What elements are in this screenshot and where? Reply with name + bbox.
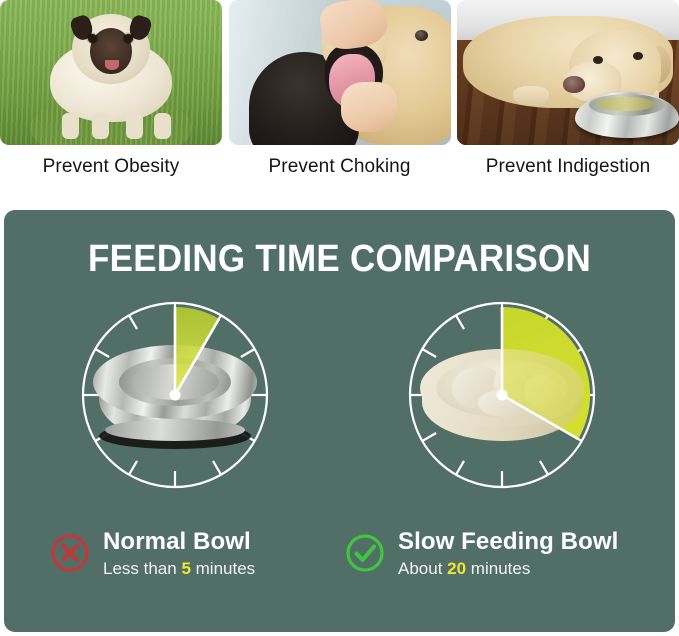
caption-prevent-obesity: Prevent Obesity [0, 152, 222, 192]
pug-leg [62, 113, 79, 139]
slow-bowl-minutes-value: 20 [447, 559, 466, 578]
pug-eye [124, 34, 133, 43]
gauge-center-pin [170, 390, 181, 401]
normal-bowl-subtitle: Less than 5 minutes [103, 557, 255, 581]
gauge-slow-feeding-bowl [402, 295, 602, 495]
comparison-item-slow-feeding-bowl: Slow Feeding Bowl About 20 minutes [344, 528, 618, 581]
dog-by-bowl-photo [457, 0, 679, 145]
slow-bowl-subtitle-suffix: minutes [466, 559, 530, 578]
labrador-nose [563, 76, 585, 93]
bowl-food [597, 97, 655, 111]
pug-on-grass-photo [0, 0, 222, 145]
feeding-time-comparison-panel: FEEDING TIME COMPARISON [4, 210, 675, 632]
slow-bowl-subtitle-prefix: About [398, 559, 447, 578]
comparison-item-normal-bowl: Normal Bowl Less than 5 minutes [49, 528, 255, 581]
labrador-eye [593, 56, 603, 64]
pug-leg [92, 113, 109, 139]
benefits-photo-strip [0, 0, 679, 145]
slow-bowl-subtitle: About 20 minutes [398, 557, 618, 581]
gauge-center-pin [497, 390, 508, 401]
normal-bowl-minutes-value: 5 [181, 559, 190, 578]
normal-bowl-subtitle-prefix: Less than [103, 559, 181, 578]
gauge-overlay-normal [75, 295, 275, 495]
pug-eye [88, 34, 97, 43]
labrador-paw [513, 86, 549, 106]
caption-prevent-indigestion: Prevent Indigestion [457, 152, 679, 192]
circle-check-icon [344, 532, 386, 574]
caption-prevent-choking: Prevent Choking [229, 152, 451, 192]
pug-leg [126, 113, 143, 139]
gauge-row [4, 295, 675, 510]
gauge-normal-bowl [75, 295, 275, 495]
person-hand-lower [341, 82, 397, 132]
retriever-eye [415, 30, 428, 41]
benefit-captions: Prevent Obesity Prevent Choking Prevent … [0, 152, 679, 192]
slow-bowl-title: Slow Feeding Bowl [398, 528, 618, 556]
comparison-labels: Normal Bowl Less than 5 minutes Slow Fee… [4, 528, 675, 598]
pug-leg [154, 113, 171, 139]
circle-x-icon [49, 532, 91, 574]
normal-bowl-subtitle-suffix: minutes [191, 559, 255, 578]
labrador-eye [633, 52, 643, 60]
normal-bowl-title: Normal Bowl [103, 528, 255, 556]
panel-title: FEEDING TIME COMPARISON [31, 238, 648, 281]
pug-tongue [105, 60, 119, 70]
gauge-overlay-slow [402, 295, 602, 495]
dog-choking-check-photo [229, 0, 451, 145]
